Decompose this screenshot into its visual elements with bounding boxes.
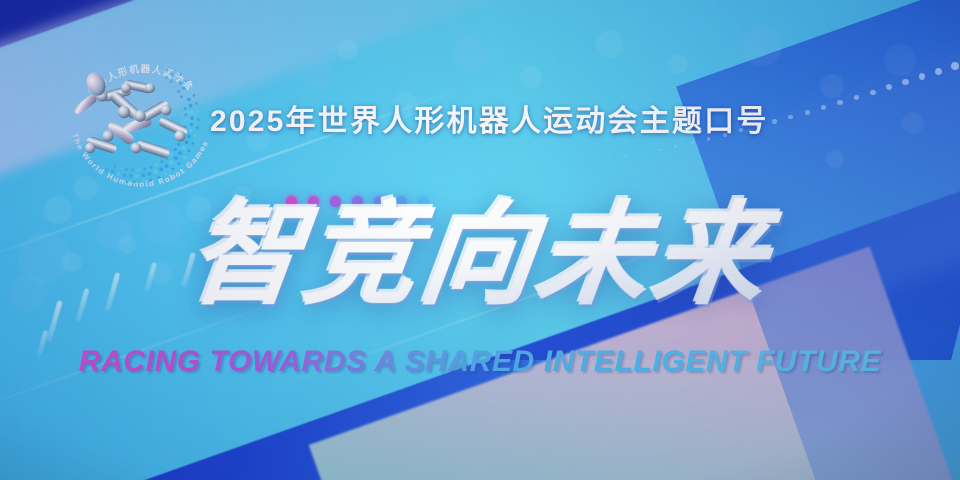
arc-dot [821, 105, 826, 110]
logo-ring-dot [190, 122, 194, 126]
page-title: 2025年世界人形机器人运动会主题口号 [210, 96, 769, 140]
logo-ring-dot [189, 129, 193, 133]
logo-ring-dot [187, 135, 191, 139]
bokeh-dot [206, 240, 222, 256]
logo-ring-dot [141, 173, 145, 177]
logo-ring-dot [137, 168, 140, 171]
logo-ring-dot [165, 76, 168, 79]
logo-ring-dot [178, 81, 182, 85]
logo-ring-dot [185, 141, 189, 145]
logo-ring-dot [177, 143, 180, 146]
logo-ring-dot [185, 80, 188, 83]
logo-ring-dot [125, 168, 128, 171]
accent-dot [418, 196, 429, 207]
logo-ring-dot [117, 179, 120, 182]
logo-ring-dot [111, 170, 115, 174]
logo-ring-dot [160, 72, 163, 75]
logo-ring-dot [129, 174, 133, 178]
logo-ring-dot [174, 148, 177, 151]
logo-ring-dot [143, 167, 146, 170]
logo-ring-dot [105, 167, 109, 171]
logo-ring-dot [174, 85, 177, 88]
bokeh-dot [520, 66, 542, 88]
logo-ring-dot [184, 113, 187, 116]
arc-dot [691, 141, 694, 144]
arc-dot [658, 149, 661, 152]
arc-dot [805, 110, 810, 115]
logo-ring-dot [187, 98, 191, 102]
logo-ring-dot [182, 101, 185, 104]
bokeh-dot [140, 200, 184, 244]
arc-dot [837, 100, 842, 105]
logo-ring-dot [133, 181, 136, 184]
accent-dot [396, 196, 407, 207]
logo-ring-dot [148, 172, 152, 176]
arc-dot [870, 90, 876, 96]
bokeh-dot [452, 36, 488, 72]
logo-ring-dot [154, 170, 158, 174]
arc-dot [854, 95, 860, 101]
logo-ring-dot [123, 173, 127, 177]
logo-ring-dot [170, 160, 174, 164]
accent-dot-row [286, 196, 429, 207]
arc-dot [772, 119, 776, 123]
bokeh-dot [44, 196, 72, 224]
logo-ring-dot [189, 104, 193, 108]
logo-ring-dot [196, 110, 199, 113]
logo-ring-dot [165, 68, 169, 72]
logo-ring-dot [142, 180, 145, 183]
arc-dot [788, 115, 793, 120]
accent-dot [286, 196, 297, 207]
games-logo: 世界人形机器人运动会 The World Humanoid Robot Game… [62, 44, 222, 194]
logo-ring-dot [159, 65, 163, 69]
logo-ring-dot [150, 178, 153, 181]
logo-ring-dot [190, 116, 194, 120]
accent-dot [308, 196, 319, 207]
logo-ring-dot [135, 174, 139, 178]
logo-ring-dot [119, 167, 122, 170]
logo-ring-dot [188, 149, 191, 152]
logo-ring-dot [170, 80, 173, 83]
logo-ring-dot [155, 163, 158, 166]
accent-dot [330, 196, 341, 207]
logo-ring-dot [191, 142, 194, 145]
logo-ring-dot [170, 153, 173, 156]
logo-ring-dot [192, 94, 195, 97]
logo-ring-dot [171, 167, 174, 170]
logo-ring-dot [117, 172, 121, 176]
arc-dot [674, 145, 677, 148]
accent-dot [352, 196, 363, 207]
accent-dot [374, 196, 385, 207]
logo-ring-dot [194, 134, 197, 137]
arc-dot [625, 155, 627, 157]
logo-ring-dot [195, 102, 198, 105]
logo-ring-dot [174, 156, 178, 160]
logo-ring-dot [178, 151, 182, 155]
logo-ring-dot [174, 76, 178, 80]
arc-dot [886, 84, 892, 90]
bokeh-dot [118, 236, 136, 254]
bokeh-dot [232, 186, 252, 206]
logo-ring-dot [182, 86, 186, 90]
logo-ring-dot [165, 164, 169, 168]
arc-dot [919, 73, 926, 80]
logo-ring-dot [189, 87, 192, 90]
bokeh-dot [186, 196, 212, 222]
logo-ring-dot [113, 165, 116, 168]
subtitle-container: RACING TOWARDS A SHARED INTELLIGENT FUTU… [0, 345, 960, 379]
slogan-english: RACING TOWARDS A SHARED INTELLIGENT FUTU… [79, 345, 881, 379]
logo-ring-dot [157, 176, 160, 179]
logo-ring-dot [131, 168, 134, 171]
logo-ring-dot [180, 95, 183, 98]
logo-ring-dot [185, 92, 189, 96]
logo-ring-dot [165, 172, 168, 175]
arc-dot [609, 157, 611, 159]
bokeh-dot [8, 272, 48, 312]
logo-ring-dot [184, 107, 187, 110]
logo-ring-dot [183, 156, 186, 159]
logo-ring-dot [178, 162, 181, 165]
logo-ring-dot [184, 119, 187, 122]
bokeh-dot [338, 40, 358, 60]
logo-ring-dot [196, 126, 199, 129]
logo-ring-dot [160, 160, 163, 163]
logo-ring-dot [177, 90, 180, 93]
logo-ring-dot [159, 167, 163, 171]
logo-ring-dot [180, 73, 183, 76]
logo-ring-dot [182, 146, 186, 150]
slogan-banner: 世界人形机器人运动会 The World Humanoid Robot Game… [0, 0, 960, 480]
logo-ring-dot [170, 72, 174, 76]
bokeh-dot [302, 58, 334, 90]
logo-ring-dot [125, 180, 128, 183]
arc-dot [642, 152, 644, 154]
arc-dot [951, 62, 958, 69]
logo-ring-dot [149, 166, 152, 169]
logo-ring-dot [197, 118, 200, 121]
arc-dot [935, 68, 942, 75]
logo-ring-dot [174, 68, 177, 71]
arc-dot [902, 79, 908, 85]
bokeh-dot [62, 252, 82, 272]
logo-ring-dot [190, 110, 194, 114]
